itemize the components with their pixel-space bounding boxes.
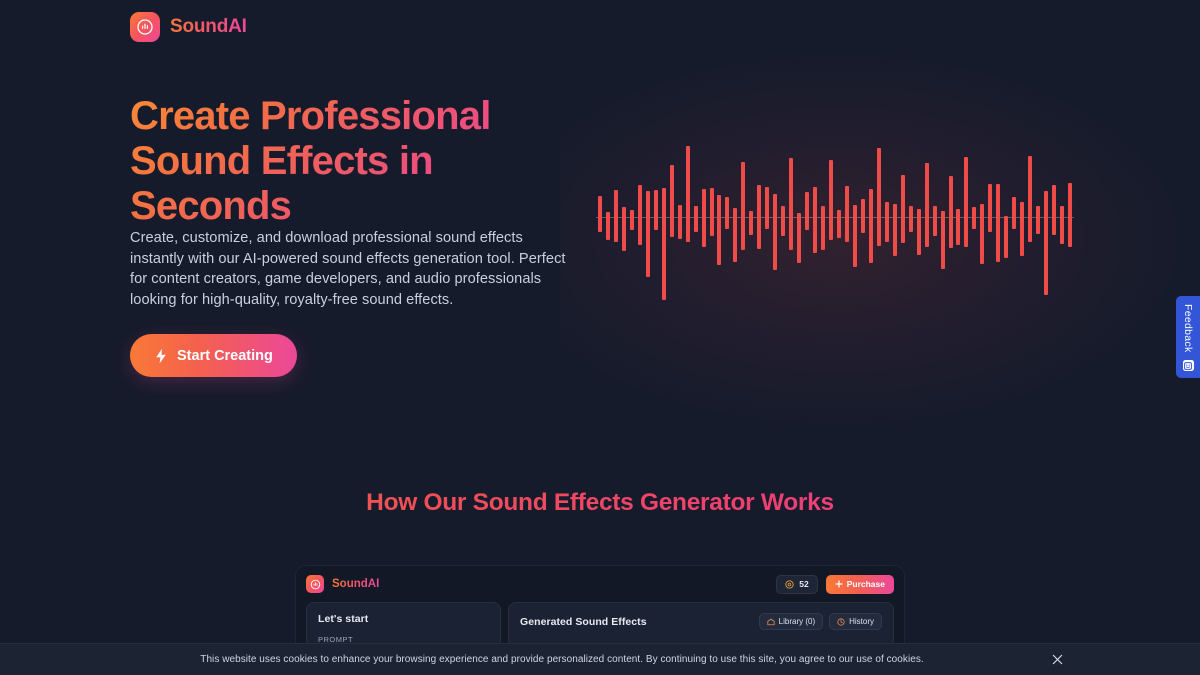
waveform-bar	[1012, 197, 1016, 229]
sound-wave-circle-icon[interactable]	[130, 12, 160, 42]
waveform-bar	[797, 213, 801, 263]
credits-badge[interactable]: 52	[776, 575, 817, 594]
waveform-bar	[630, 210, 634, 230]
waveform-bar	[1020, 202, 1024, 256]
waveform-bar	[861, 199, 865, 233]
library-button[interactable]: Library (0)	[759, 613, 823, 630]
start-creating-label: Start Creating	[177, 348, 273, 364]
waveform-bar	[622, 207, 626, 251]
waveform-bar	[1052, 185, 1056, 235]
waveform-bar	[614, 190, 618, 242]
brand-name[interactable]: SoundAI	[170, 16, 247, 38]
app-topbar: SoundAI 52 Purchase	[296, 566, 904, 602]
waveform-bar	[1036, 206, 1040, 234]
page-title: Create Professional Sound Effects in Sec…	[130, 94, 600, 229]
cookie-message: This website uses cookies to enhance you…	[22, 654, 1046, 665]
waveform-bar	[845, 186, 849, 242]
waveform-bar	[821, 206, 825, 250]
waveform-bar	[773, 194, 777, 270]
waveform-bar	[646, 191, 650, 277]
waveform-bar	[678, 205, 682, 239]
waveform-bar	[662, 188, 666, 300]
waveform-bar	[893, 204, 897, 256]
generated-effects-actions: Library (0) History	[759, 613, 882, 630]
waveform-bar	[949, 176, 953, 248]
waveform-bar	[829, 160, 833, 240]
waveform-bar	[996, 184, 1000, 262]
waveform-bar	[1028, 156, 1032, 242]
waveform-bar	[956, 209, 960, 245]
waveform-bar	[757, 185, 761, 249]
history-button[interactable]: History	[829, 613, 882, 630]
waveform-bar	[654, 190, 658, 230]
cookie-consent-banner: This website uses cookies to enhance you…	[0, 643, 1200, 675]
waveform-bar	[702, 189, 706, 247]
waveform-bar	[813, 187, 817, 253]
library-icon	[767, 618, 775, 626]
waveform-bar	[909, 206, 913, 232]
waveform-bar	[606, 212, 610, 240]
waveform-bar	[1060, 206, 1064, 244]
waveform-bar	[694, 206, 698, 232]
feedback-label: Feedback	[1182, 304, 1194, 360]
coin-icon	[785, 580, 794, 589]
waveform-bar	[869, 189, 873, 263]
lightning-bolt-icon	[154, 348, 168, 364]
purchase-label: Purchase	[847, 579, 885, 589]
waveform-bar	[733, 208, 737, 262]
waveform-bar	[925, 163, 929, 247]
history-label: History	[849, 617, 874, 626]
generated-effects-header: Generated Sound Effects Library (0)	[520, 613, 882, 630]
waveform-bar	[781, 206, 785, 236]
waveform-bar	[749, 211, 753, 235]
waveform-bar	[1004, 216, 1008, 258]
waveform-bar	[598, 196, 602, 232]
waveform-bar	[638, 185, 642, 245]
prompt-panel-title: Let's start	[318, 613, 489, 625]
waveform-bar	[988, 184, 992, 232]
app-brand-name[interactable]: SoundAI	[332, 578, 379, 590]
waveform-bar	[837, 210, 841, 238]
close-icon[interactable]	[1046, 649, 1068, 671]
library-label: Library (0)	[779, 617, 815, 626]
waveform-bar	[765, 187, 769, 229]
waveform-center-axis	[596, 217, 1074, 218]
app-sound-wave-circle-icon[interactable]	[306, 575, 324, 593]
waveform-bar	[901, 175, 905, 243]
waveform-bar	[686, 146, 690, 242]
waveform-bar	[789, 158, 793, 250]
audio-waveform-visualization	[596, 134, 1074, 300]
waveform-bar	[710, 188, 714, 236]
waveform-bar	[877, 148, 881, 246]
plus-icon	[835, 580, 843, 588]
history-clock-icon	[837, 618, 845, 626]
hero-subtext: Create, customize, and download professi…	[130, 228, 580, 310]
waveform-bar	[964, 157, 968, 247]
start-creating-button[interactable]: Start Creating	[130, 334, 297, 377]
waveform-bar	[670, 165, 674, 237]
purchase-button[interactable]: Purchase	[826, 575, 894, 594]
feedback-tab[interactable]: Feedback	[1176, 296, 1200, 378]
waveform-bar	[717, 195, 721, 265]
waveform-bar	[725, 197, 729, 229]
waveform-bar	[805, 192, 809, 230]
waveform-bar	[917, 209, 921, 255]
waveform-bar	[941, 211, 945, 269]
waveform-bar	[1068, 183, 1072, 247]
waveform-bar	[972, 207, 976, 229]
generated-effects-title: Generated Sound Effects	[520, 616, 759, 628]
waveform-bar	[980, 204, 984, 264]
waveform-bar	[933, 206, 937, 236]
smiley-feedback-icon	[1183, 360, 1194, 371]
credits-value: 52	[799, 579, 808, 589]
waveform-bar	[1044, 191, 1048, 295]
site-header: SoundAI	[130, 12, 247, 42]
waveform-bar	[853, 205, 857, 267]
waveform-bar	[885, 202, 889, 242]
waveform-bar	[741, 162, 745, 250]
section-title: How Our Sound Effects Generator Works	[0, 489, 1200, 517]
